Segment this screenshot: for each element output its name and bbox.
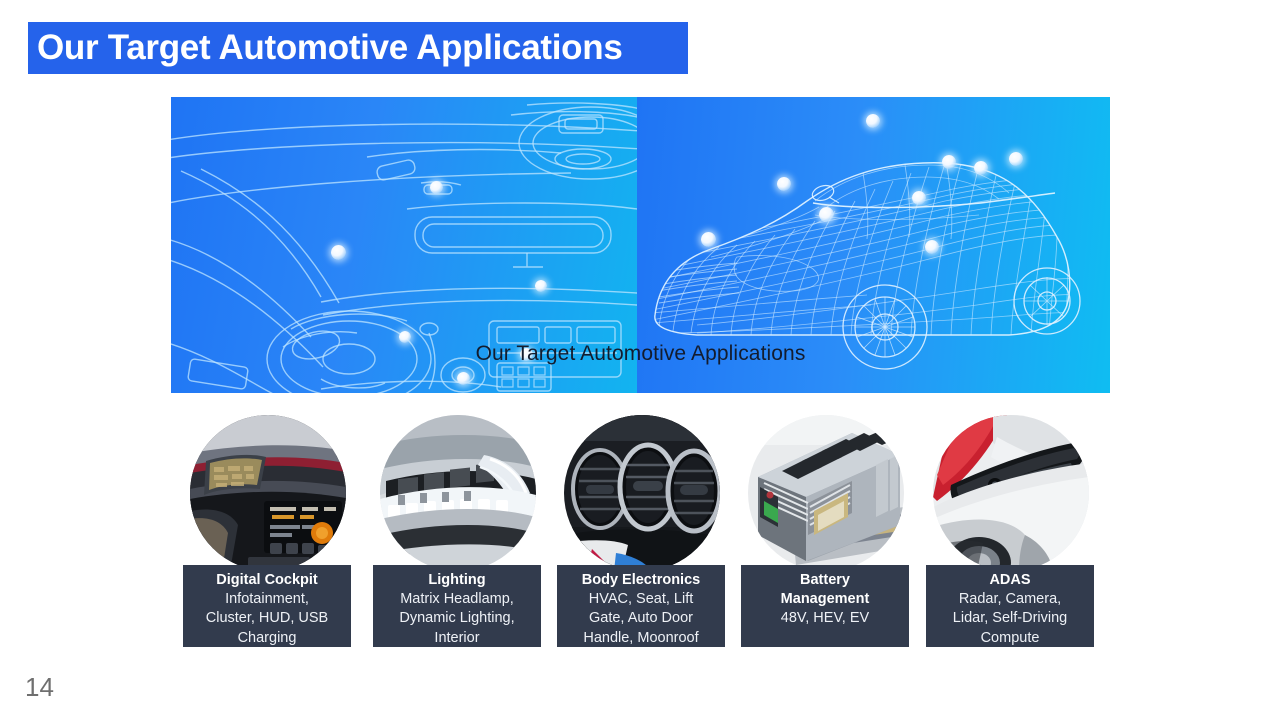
card-adas[interactable]: ADAS Radar, Camera, Lidar, Self-Driving … [926,415,1094,650]
card-title: Management [741,590,909,609]
card-title: ADAS [926,571,1094,590]
card-subtitle-line: Interior [373,629,541,648]
led-headlamp-photo-icon [380,415,536,571]
card-label-box: Digital Cockpit Infotainment, Cluster, H… [183,565,351,647]
hotspot-dot [457,372,470,385]
hvac-air-vents-photo-icon [564,415,720,571]
card-label-box: Lighting Matrix Headlamp, Dynamic Lighti… [373,565,541,647]
adas-sensor-car-front-photo-icon [933,415,1089,571]
battery-module-photo-icon [748,415,904,571]
card-digital-cockpit[interactable]: Digital Cockpit Infotainment, Cluster, H… [183,415,351,650]
card-thumbnail [380,415,536,571]
card-subtitle-line: Cluster, HUD, USB [183,609,351,628]
card-title: Body Electronics [557,571,725,590]
slide-title-band: Our Target Automotive Applications [28,22,688,74]
card-subtitle-line: Handle, Moonroof [557,629,725,648]
card-subtitle-line: Gate, Auto Door [557,609,725,628]
card-thumbnail [564,415,720,571]
card-subtitle-line: Lidar, Self-Driving [926,609,1094,628]
card-title: Lighting [373,571,541,590]
hotspot-dot [819,207,834,222]
card-thumbnail [748,415,904,571]
card-subtitle-line: Charging [183,629,351,648]
hotspot-dot [912,191,926,205]
card-title: Digital Cockpit [183,571,351,590]
card-title: Battery [741,571,909,590]
hotspot-dot [777,177,791,191]
card-lighting[interactable]: Lighting Matrix Headlamp, Dynamic Lighti… [373,415,541,650]
card-subtitle-line: Compute [926,629,1094,648]
card-thumbnail [933,415,1089,571]
card-label-box: Body Electronics HVAC, Seat, Lift Gate, … [557,565,725,647]
hotspot-dot [974,161,988,175]
hero-banner: Our Target Automotive Applications [171,97,1110,393]
car-dashboard-photo-icon [190,415,346,571]
hotspot-dot [331,245,346,260]
hotspot-dot [942,155,956,169]
page-number: 14 [25,672,54,703]
card-subtitle-line: Matrix Headlamp, [373,590,541,609]
card-subtitle-line: Dynamic Lighting, [373,609,541,628]
hotspot-dot [430,181,443,194]
hotspot-dot [1009,152,1023,166]
hotspot-dot [925,240,939,254]
card-subtitle-line: Radar, Camera, [926,590,1094,609]
page-title: Our Target Automotive Applications [28,28,622,68]
hero-caption: Our Target Automotive Applications [171,342,1110,366]
card-battery-management[interactable]: Battery Management 48V, HEV, EV [741,415,909,650]
card-subtitle-line: HVAC, Seat, Lift [557,590,725,609]
hotspot-dot [866,114,880,128]
card-thumbnail [190,415,346,571]
card-subtitle-line: 48V, HEV, EV [741,609,909,628]
hotspot-dot [535,280,547,292]
application-cards: Digital Cockpit Infotainment, Cluster, H… [183,415,1087,650]
hotspot-dot [701,232,716,247]
card-body-electronics[interactable]: Body Electronics HVAC, Seat, Lift Gate, … [557,415,725,650]
slide-root: Our Target Automotive Applications [0,0,1280,720]
card-label-box: ADAS Radar, Camera, Lidar, Self-Driving … [926,565,1094,647]
card-label-box: Battery Management 48V, HEV, EV [741,565,909,647]
card-subtitle-line: Infotainment, [183,590,351,609]
